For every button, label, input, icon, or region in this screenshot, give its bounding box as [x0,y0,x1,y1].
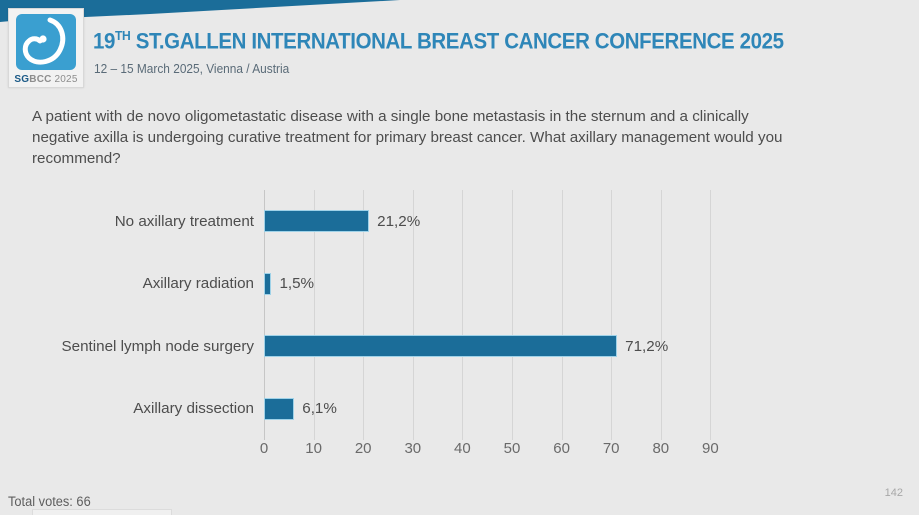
chart-bar [264,210,369,232]
bar-category-label: Axillary radiation [0,275,254,292]
sgbcc-ribbon-logo [16,14,76,70]
x-tick-10: 10 [305,440,322,457]
total-votes-label: Total votes: 66 [8,494,91,509]
chart-row: Axillary radiation1,5% [0,253,919,316]
chart-row: Axillary dissection6,1% [0,378,919,441]
x-tick-40: 40 [454,440,471,457]
x-tick-20: 20 [355,440,372,457]
conference-logo: SGBCC 2025 [8,8,84,88]
chart-bar-rows: No axillary treatment21,2%Axillary radia… [0,190,919,440]
x-tick-60: 60 [553,440,570,457]
bar-value-label: 71,2% [625,338,668,355]
conference-title: 19TH ST.GALLEN INTERNATIONAL BREAST CANC… [93,28,784,54]
title-superscript: TH [115,28,130,43]
logo-sg: SG [14,74,29,85]
chart-x-axis: 0102030405060708090 [0,440,919,466]
x-tick-30: 30 [404,440,421,457]
chart-row: Sentinel lymph node surgery71,2% [0,315,919,378]
title-rest: ST.GALLEN INTERNATIONAL BREAST CANCER CO… [130,28,783,53]
logo-year: 2025 [55,74,78,85]
logo-wordmark: SGBCC 2025 [14,74,77,85]
poll-results-chart: No axillary treatment21,2%Axillary radia… [0,190,919,465]
chart-row: No axillary treatment21,2% [0,190,919,253]
question-text: A patient with de novo oligometastatic d… [32,106,804,169]
bar-value-label: 21,2% [377,213,420,230]
x-tick-70: 70 [603,440,620,457]
bar-category-label: No axillary treatment [0,213,254,230]
logo-bcc: BCC [29,74,51,85]
bar-value-label: 1,5% [279,275,314,292]
conference-subtitle: 12 – 15 March 2025, Vienna / Austria [94,62,289,76]
chart-bar [264,335,617,357]
chart-bar [264,273,271,295]
title-prefix: 19 [93,28,115,53]
x-tick-90: 90 [702,440,719,457]
chart-bar [264,398,294,420]
x-tick-50: 50 [504,440,521,457]
x-tick-80: 80 [652,440,669,457]
x-tick-0: 0 [260,440,268,457]
slide-number: 142 [885,487,903,499]
bar-category-label: Sentinel lymph node surgery [0,338,254,355]
slide-header: SGBCC 2025 19TH ST.GALLEN INTERNATIONAL … [0,0,919,96]
footer-strip [32,509,172,515]
bar-value-label: 6,1% [302,400,337,417]
bar-category-label: Axillary dissection [0,400,254,417]
